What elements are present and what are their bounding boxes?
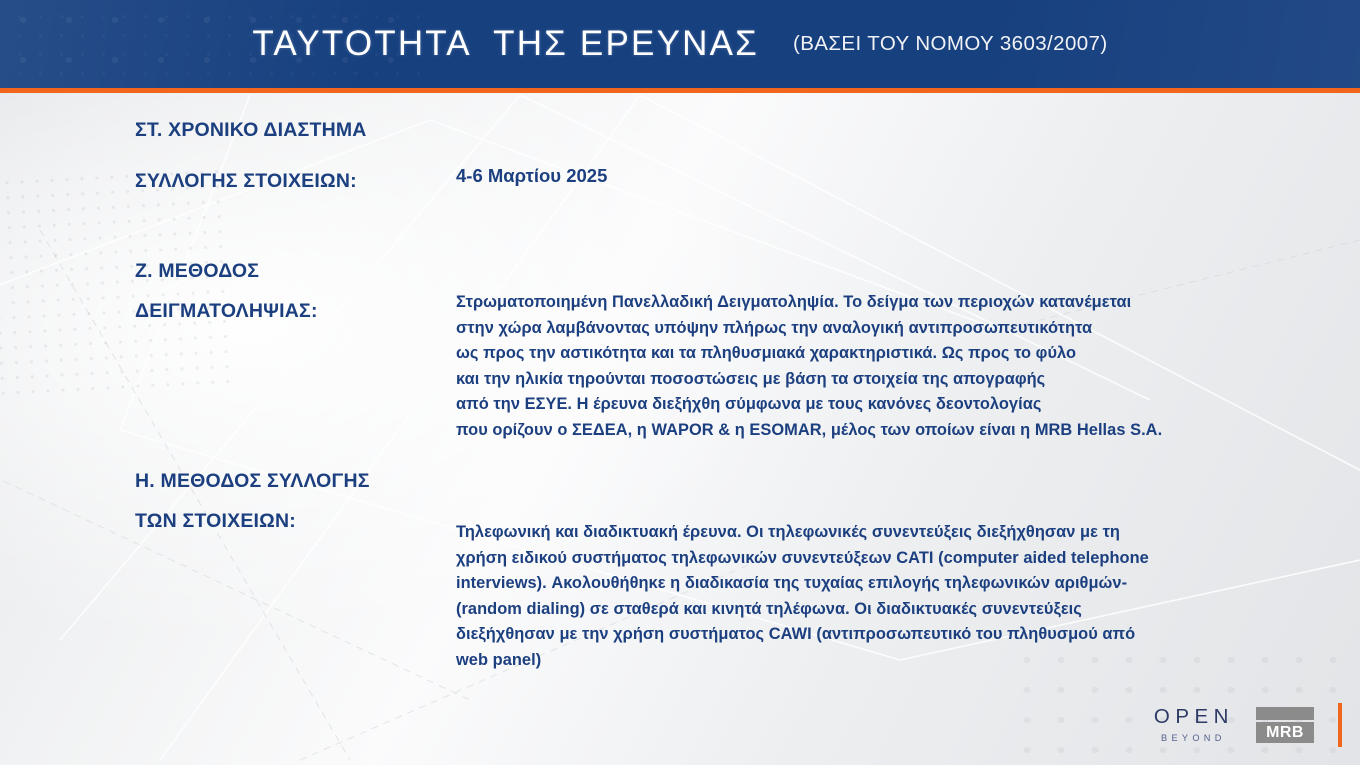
section-h-value: Τηλεφωνική και διαδικτυακή έρευνα. Οι τη… bbox=[456, 520, 1346, 674]
mrb-logo-box: MRB bbox=[1256, 722, 1314, 743]
page-subtitle: (ΒΑΣΕΙ ΤΟΥ ΝΟΜΟΥ 3603/2007) bbox=[793, 32, 1108, 56]
section-z-label-line2: ΔΕΙΓΜΑΤΟΛΗΨΙΑΣ: bbox=[135, 286, 318, 337]
mrb-logo: MRB bbox=[1256, 707, 1314, 743]
mrb-logo-text: MRB bbox=[1266, 725, 1304, 741]
page-title: ΤΑΥΤΟΤΗΤΑ ΤΗΣ ΕΡΕΥΝΑΣ bbox=[252, 24, 759, 64]
open-logo-wordmark: OPEN bbox=[1148, 707, 1234, 728]
section-st-label-line2: ΣΥΛΛΟΓΗΣ ΣΤΟΙΧΕΙΩΝ: bbox=[135, 156, 357, 207]
open-beyond-logo: OPEN BEYOND bbox=[1148, 707, 1234, 743]
header-title-row: ΤΑΥΤΟΤΗΤΑ ΤΗΣ ΕΡΕΥΝΑΣ (ΒΑΣΕΙ ΤΟΥ ΝΟΜΟΥ 3… bbox=[0, 0, 1360, 88]
section-h-label-line2: ΤΩΝ ΣΤΟΙΧΕΙΩΝ: bbox=[135, 496, 296, 547]
footer-accent-tick bbox=[1338, 703, 1342, 747]
section-z-value: Στρωματοποιημένη Πανελλαδική Δειγματοληψ… bbox=[456, 290, 1346, 444]
slide-body: ΣΤ. ΧΡΟΝΙΚΟ ΔΙΑΣΤΗΜΑ ΣΥΛΛΟΓΗΣ ΣΤΟΙΧΕΙΩΝ:… bbox=[0, 93, 1360, 765]
footer-logos: OPEN BEYOND MRB bbox=[1148, 703, 1342, 747]
section-st-value: 4-6 Μαρτίου 2025 bbox=[456, 165, 607, 187]
slide: ΤΑΥΤΟΤΗΤΑ ΤΗΣ ΕΡΕΥΝΑΣ (ΒΑΣΕΙ ΤΟΥ ΝΟΜΟΥ 3… bbox=[0, 0, 1360, 765]
mrb-logo-bar bbox=[1256, 707, 1314, 720]
open-logo-tagline: BEYOND bbox=[1157, 734, 1226, 743]
section-st-label-line1: ΣΤ. ΧΡΟΝΙΚΟ ΔΙΑΣΤΗΜΑ bbox=[135, 105, 367, 156]
